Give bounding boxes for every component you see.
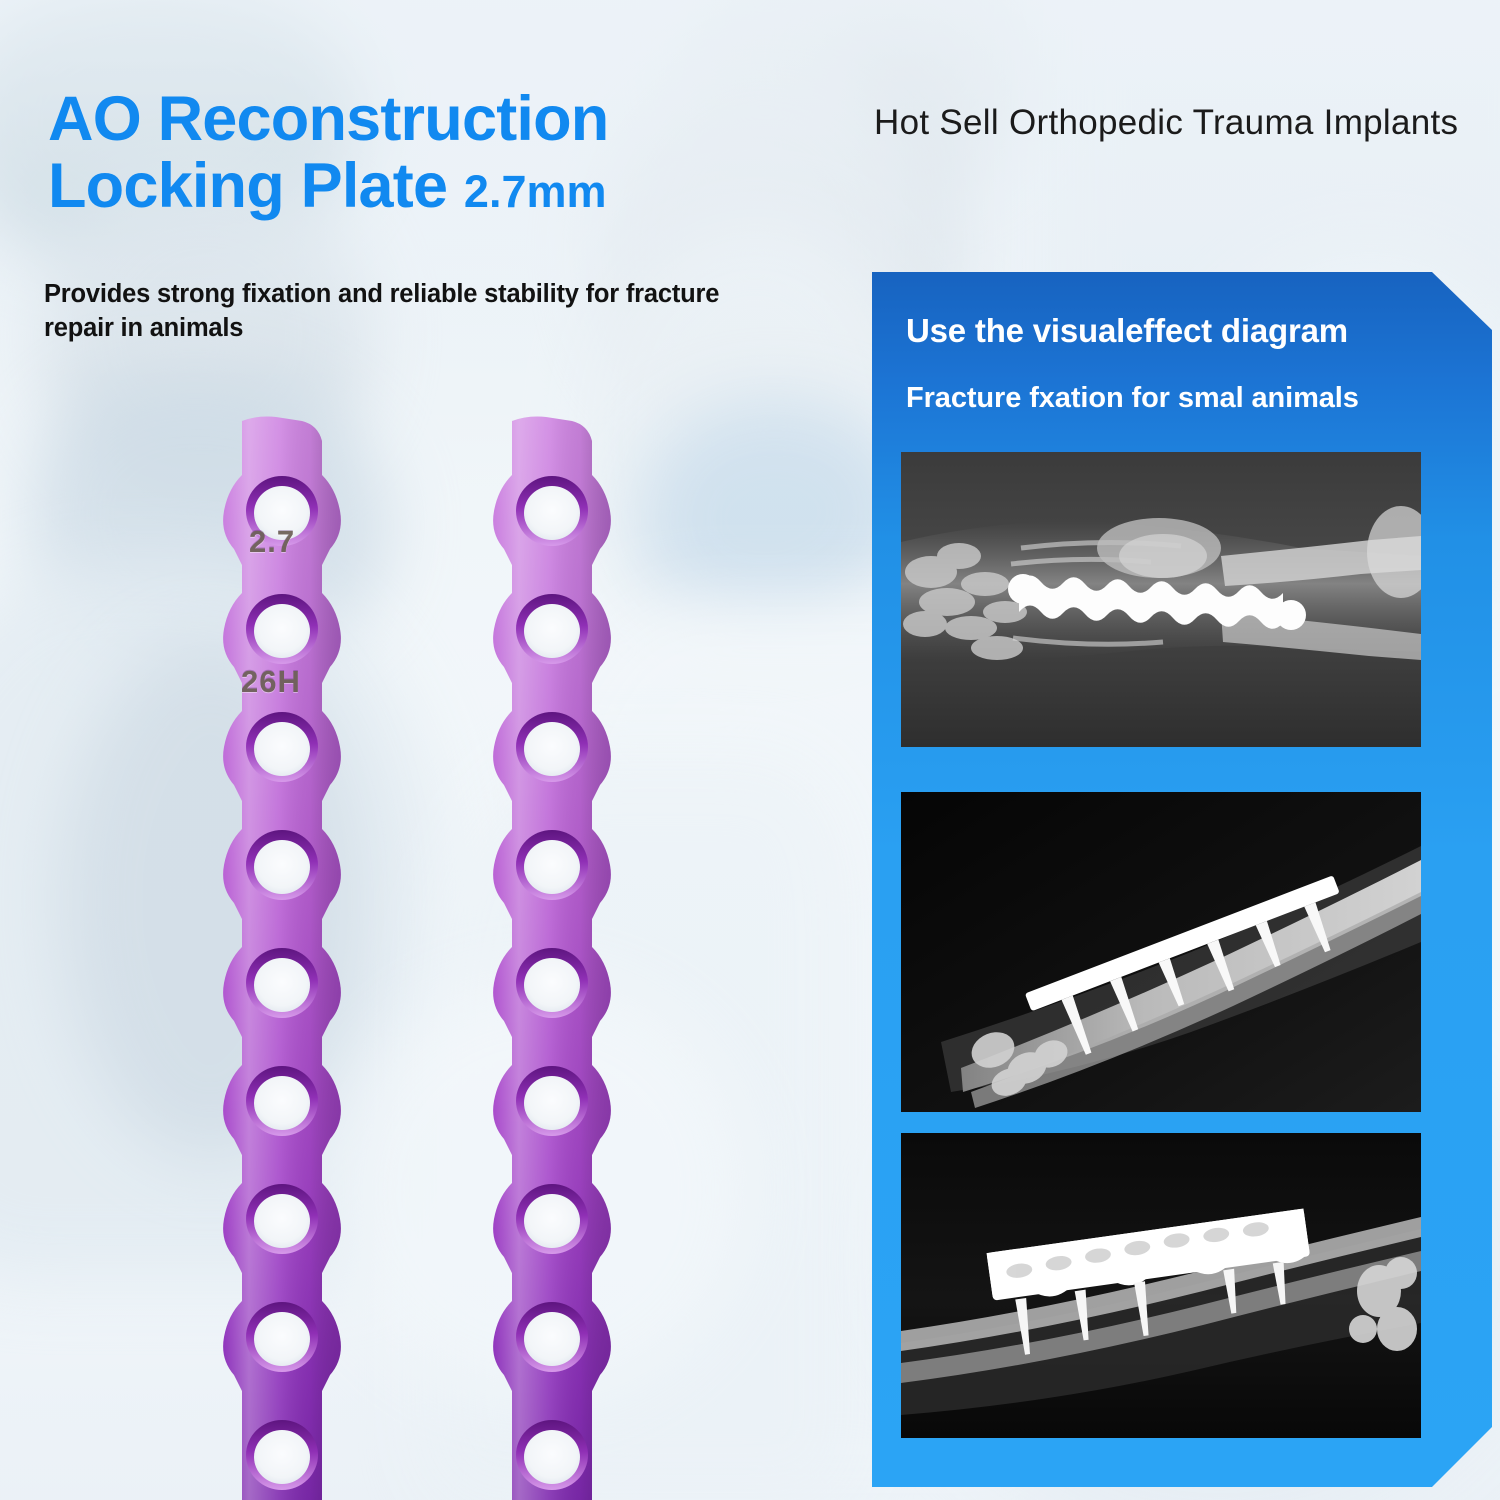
page-title-line-2-text: Locking Plate	[48, 151, 447, 221]
tagline: Hot Sell Orthopedic Trauma Implants	[874, 103, 1484, 143]
product-photo-group: 2.7 26H	[0, 0, 880, 1500]
page-title-line-2: Locking Plate 2.7mm	[48, 153, 838, 220]
panel-subheading: Fracture fxation for smal animals	[906, 382, 1466, 415]
product-size-label: 2.7mm	[464, 166, 607, 217]
page-subtitle: Provides strong fixation and reliable st…	[44, 278, 774, 345]
plate-screw-holes	[246, 476, 318, 1490]
plate-engraving-holes: 26H	[241, 664, 301, 700]
plate-engraving-size: 2.7	[249, 524, 295, 560]
locking-plate-right	[450, 415, 660, 1500]
xray-image-2	[901, 792, 1421, 1112]
xray-image-3	[901, 1133, 1421, 1438]
product-marketing-image: 2.7 26H AO Reconstruction Locking Plate …	[0, 0, 1500, 1500]
page-title-line-1: AO Reconstruction	[48, 86, 838, 153]
page-title: AO Reconstruction Locking Plate 2.7mm	[48, 86, 838, 220]
locking-plate-left	[180, 415, 390, 1500]
xray-image-1	[901, 452, 1421, 747]
plate-screw-holes	[516, 476, 588, 1490]
panel-heading: Use the visualeffect diagram	[906, 312, 1466, 350]
